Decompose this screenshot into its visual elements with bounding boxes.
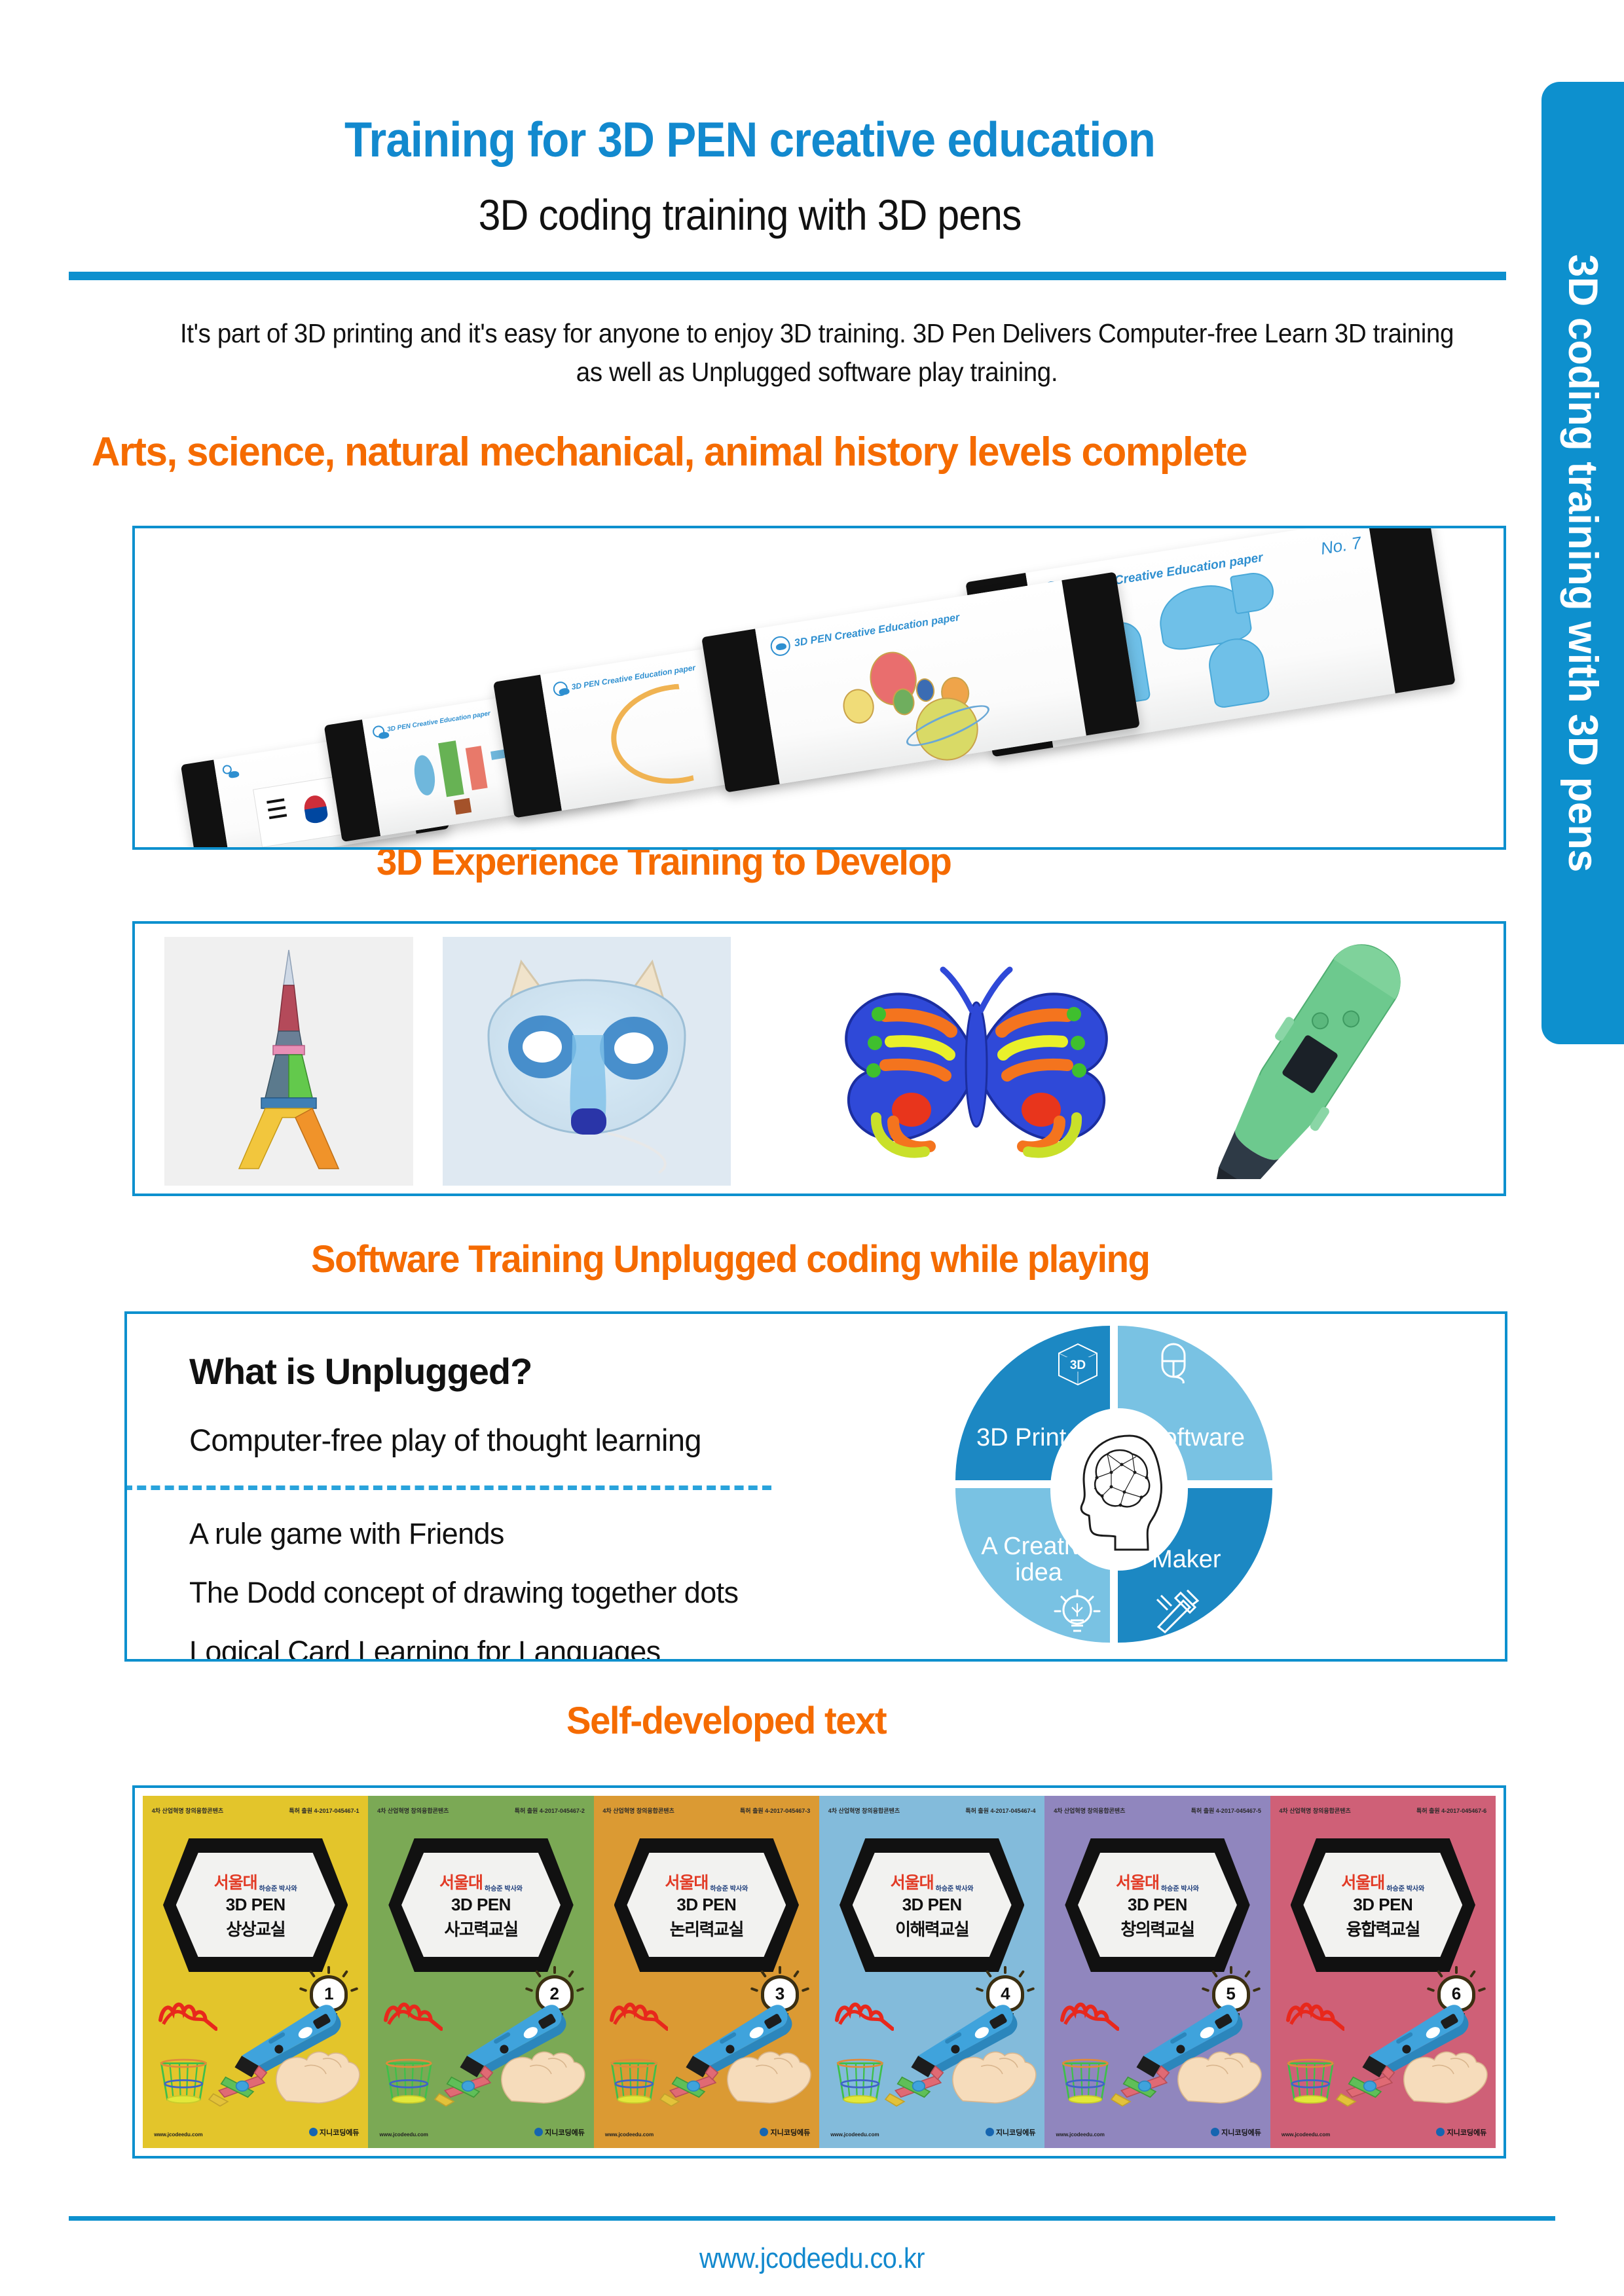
photo-3d-pen	[1156, 943, 1464, 1179]
textbook-university-line: 서울대 하승준 박사와	[1116, 1870, 1199, 1893]
textbook-top-note: 4차 산업혁명 창의융합콘텐츠 특허 출원 4-2017-045467-5	[1054, 1806, 1261, 1815]
textbook-university-line: 서울대 하승준 박사와	[891, 1870, 974, 1893]
tools-icon	[1152, 1586, 1202, 1635]
textbook-university: 서울대	[1341, 1870, 1384, 1893]
textbook-content-note: 4차 산업혁명 창의융합콘텐츠	[377, 1806, 449, 1815]
panel-education-papers: 3D PEN Creative Education paper No. 7 3D…	[132, 526, 1506, 850]
textbook-patent: 특허 출원 4-2017-045467-5	[1191, 1806, 1261, 1815]
textbook-hexagon-badge: 서울대 하승준 박사와 3D PEN 창의력교실	[1065, 1838, 1249, 1972]
basket-icon	[607, 2043, 661, 2120]
textbook-university-line: 서울대 하승준 박사와	[1341, 1870, 1424, 1893]
textbook-content-note: 4차 산업혁명 창의융합콘텐츠	[828, 1806, 900, 1815]
toy-plane-icon	[657, 2049, 729, 2120]
jinie-logo-icon	[553, 680, 569, 697]
textbook-doctor: 하승준 박사와	[936, 1886, 974, 1893]
planet-shape	[914, 677, 936, 703]
dinosaur-shape	[1230, 570, 1277, 615]
textbook-university: 서울대	[891, 1870, 934, 1893]
header-divider	[69, 272, 1506, 280]
brain-head-icon	[1050, 1408, 1188, 1571]
textbook-patent: 특허 출원 4-2017-045467-4	[965, 1806, 1035, 1815]
red-scribble-icon	[835, 1990, 894, 2039]
textbook-content-note: 4차 산업혁명 창의융합콘텐츠	[1279, 1806, 1350, 1815]
textbook-university: 서울대	[214, 1870, 257, 1893]
textbook-room-label: 논리력교실	[670, 1916, 743, 1941]
unplugged-question: What is Unplugged?	[189, 1350, 532, 1393]
toy-plane-icon	[882, 2049, 954, 2120]
textbook-brand: 지니코딩에듀	[986, 2127, 1036, 2138]
textbook-top-note: 4차 산업혁명 창의융합콘텐츠 특허 출원 4-2017-045467-2	[377, 1806, 585, 1815]
toy-plane-icon	[432, 2049, 504, 2120]
jinie-logo-icon	[372, 725, 386, 738]
airplane-part	[466, 746, 487, 791]
brand-logo-icon	[986, 2128, 994, 2136]
textbook-hexagon-badge: 서울대 하승준 박사와 3D PEN 이해력교실	[840, 1838, 1024, 1972]
textbook-row: 4차 산업혁명 창의융합콘텐츠 특허 출원 4-2017-045467-1 서울…	[143, 1796, 1496, 2148]
card-sheet: 3D PEN Creative Education paper	[755, 580, 1086, 784]
textbook-patent: 특허 출원 4-2017-045467-2	[515, 1806, 585, 1815]
basket-icon	[1058, 2043, 1113, 2120]
textbook-pen-label: 3D PEN	[1353, 1895, 1412, 1915]
page-title: Training for 3D PEN creative education	[60, 111, 1440, 168]
card-title: 3D PEN Creative Education paper	[794, 611, 961, 649]
textbook-room-label: 이해력교실	[895, 1916, 969, 1941]
textbook-content-note: 4차 산업혁명 창의융합콘텐츠	[1054, 1806, 1125, 1815]
textbook-cover[interactable]: 4차 산업혁명 창의융합콘텐츠 특허 출원 4-2017-045467-2 서울…	[368, 1796, 593, 2148]
red-scribble-icon	[1286, 1990, 1345, 2039]
textbook-brand: 지니코딩에듀	[760, 2127, 810, 2138]
textbook-room-label: 융합력교실	[1346, 1916, 1420, 1941]
mouse-icon	[1151, 1338, 1196, 1383]
textbook-pen-label: 3D PEN	[1128, 1895, 1187, 1915]
planet-shape	[841, 687, 877, 726]
side-tab: 3D coding training with 3D pens	[1541, 82, 1624, 1044]
textbook-brand: 지니코딩에듀	[1436, 2127, 1486, 2138]
textbook-url: www.jcodeedu.com	[605, 2132, 654, 2138]
textbook-cover[interactable]: 4차 산업혁명 창의융합콘텐츠 특허 출원 4-2017-045467-4 서울…	[819, 1796, 1044, 2148]
textbook-patent: 특허 출원 4-2017-045467-3	[740, 1806, 810, 1815]
textbook-hexagon-badge: 서울대 하승준 박사와 3D PEN 사고력교실	[388, 1838, 573, 1972]
red-scribble-icon	[610, 1990, 669, 2039]
brand-logo-icon	[309, 2128, 318, 2136]
page-description: It's part of 3D printing and it's easy f…	[172, 314, 1462, 392]
textbook-university-line: 서울대 하승준 박사와	[214, 1870, 297, 1893]
textbook-university-line: 서울대 하승준 박사와	[665, 1870, 748, 1893]
unplugged-answer: Computer-free play of thought learning	[189, 1422, 701, 1458]
textbook-pen-label: 3D PEN	[451, 1895, 511, 1915]
jinie-logo-icon	[769, 634, 792, 657]
wolf-mask-icon	[443, 937, 731, 1186]
toy-plane-icon	[206, 2049, 278, 2120]
textbook-cover[interactable]: 4차 산업혁명 창의융합콘텐츠 특허 출원 4-2017-045467-5 서울…	[1044, 1796, 1270, 2148]
textbook-hexagon-badge: 서울대 하승준 박사와 3D PEN 융합력교실	[1291, 1838, 1475, 1972]
unplugged-item: Logical Card Learning fpr Languages	[189, 1635, 661, 1662]
textbook-room-label: 사고력교실	[444, 1916, 517, 1941]
basket-icon	[382, 2043, 436, 2120]
lightbulb-icon	[1054, 1588, 1101, 1637]
textbook-cover[interactable]: 4차 산업혁명 창의융합콘텐츠 특허 출원 4-2017-045467-1 서울…	[143, 1796, 368, 2148]
section-heading-levels: Arts, science, natural mechanical, anima…	[92, 429, 1247, 475]
textbook-url: www.jcodeedu.com	[154, 2132, 202, 2138]
toy-plane-icon	[1108, 2049, 1180, 2120]
textbook-doctor: 하승준 박사와	[1386, 1886, 1424, 1893]
basket-icon	[833, 2043, 887, 2120]
textbook-hexagon-badge: 서울대 하승준 박사와 3D PEN 논리력교실	[614, 1838, 799, 1972]
airplane-part	[454, 798, 471, 814]
textbook-patent: 특허 출원 4-2017-045467-6	[1416, 1806, 1486, 1815]
panel-textbooks: 4차 산업혁명 창의융합콘텐츠 특허 출원 4-2017-045467-1 서울…	[132, 1785, 1506, 2159]
textbook-cover[interactable]: 4차 산업혁명 창의융합콘텐츠 특허 출원 4-2017-045467-3 서울…	[594, 1796, 819, 2148]
photo-eiffel-tower	[164, 937, 413, 1186]
brand-logo-icon	[760, 2128, 768, 2136]
red-scribble-icon	[158, 1990, 217, 2039]
paper-card-solar-system: 3D PEN Creative Education paper	[701, 572, 1140, 792]
textbook-content-note: 4차 산업혁명 창의융합콘텐츠	[602, 1806, 674, 1815]
cube-3d-icon: 3D	[1054, 1340, 1102, 1389]
textbook-room-label: 상상교실	[226, 1916, 285, 1941]
textbook-doctor: 하승준 박사와	[259, 1886, 297, 1893]
red-scribble-icon	[384, 1990, 443, 2039]
photo-wolf-mask	[443, 937, 731, 1186]
footer-url[interactable]: www.jcodeedu.co.kr	[81, 2242, 1543, 2275]
textbook-pen-label: 3D PEN	[676, 1895, 736, 1915]
eiffel-tower-icon	[217, 946, 361, 1175]
concept-wheel-diagram: 3D Printer Software A Creative idea Make…	[955, 1326, 1283, 1653]
textbook-university: 서울대	[439, 1870, 483, 1893]
textbook-room-label: 창의력교실	[1120, 1916, 1194, 1941]
jinie-logo-icon	[222, 765, 232, 775]
textbook-university-line: 서울대 하승준 박사와	[439, 1870, 523, 1893]
panel-unplugged: What is Unplugged? Computer-free play of…	[124, 1311, 1507, 1662]
textbook-content-note: 4차 산업혁명 창의융합콘텐츠	[152, 1806, 223, 1815]
card-title: 3D PEN Creative Education paper	[386, 710, 490, 733]
textbook-top-note: 4차 산업혁명 창의융합콘텐츠 특허 출원 4-2017-045467-1	[152, 1806, 360, 1815]
textbook-url: www.jcodeedu.com	[830, 2132, 879, 2138]
textbook-brand: 지니코딩에듀	[534, 2127, 585, 2138]
card-header: 3D PEN Creative Education paper	[769, 592, 1058, 657]
dashed-divider	[124, 1485, 771, 1490]
panel-3d-creations	[132, 921, 1506, 1196]
textbook-top-note: 4차 산업혁명 창의융합콘텐츠 특허 출원 4-2017-045467-6	[1279, 1806, 1486, 1815]
unplugged-item: The Dodd concept of drawing together dot…	[189, 1576, 738, 1610]
red-scribble-icon	[1060, 1990, 1119, 2039]
unplugged-item: A rule game with Friends	[189, 1517, 504, 1551]
butterfly-icon	[822, 950, 1130, 1173]
page-subtitle: 3D coding training with 3D pens	[60, 190, 1440, 240]
textbook-hexagon-badge: 서울대 하승준 박사와 3D PEN 상상교실	[163, 1838, 348, 1972]
side-tab-label: 3D coding training with 3D pens	[1559, 254, 1606, 872]
toy-plane-icon	[1333, 2049, 1405, 2120]
textbook-university: 서울대	[1116, 1870, 1159, 1893]
brand-logo-icon	[534, 2128, 543, 2136]
textbook-cover[interactable]: 4차 산업혁명 창의융합콘텐츠 특허 출원 4-2017-045467-6 서울…	[1270, 1796, 1496, 2148]
basket-icon	[1283, 2043, 1338, 2120]
textbook-url: www.jcodeedu.com	[1056, 2132, 1105, 2138]
textbook-top-note: 4차 산업혁명 창의융합콘텐츠 특허 출원 4-2017-045467-3	[602, 1806, 810, 1815]
textbook-doctor: 하승준 박사와	[1161, 1886, 1199, 1893]
textbook-doctor: 하승준 박사와	[485, 1886, 523, 1893]
card-number: No. 7	[1319, 532, 1363, 558]
textbook-brand: 지니코딩에듀	[309, 2127, 360, 2138]
textbook-url: www.jcodeedu.com	[380, 2132, 428, 2138]
brand-logo-icon	[1211, 2128, 1219, 2136]
brand-logo-icon	[1436, 2128, 1445, 2136]
airplane-part	[438, 740, 464, 797]
footer-divider	[69, 2216, 1555, 2221]
textbook-doctor: 하승준 박사와	[710, 1886, 748, 1893]
photo-butterfly	[822, 950, 1130, 1173]
textbook-brand: 지니코딩에듀	[1211, 2127, 1261, 2138]
textbook-url: www.jcodeedu.com	[1282, 2132, 1330, 2138]
section-heading-textbooks: Self-developed text	[566, 1699, 886, 1743]
poster-page: Training for 3D PEN creative education 3…	[0, 0, 1624, 2296]
dinosaur-shape	[1205, 634, 1270, 710]
3d-pen-icon	[1156, 943, 1464, 1179]
basket-icon	[157, 2043, 211, 2120]
textbook-patent: 특허 출원 4-2017-045467-1	[289, 1806, 359, 1815]
svg-text:3D: 3D	[1070, 1358, 1086, 1372]
section-heading-software: Software Training Unplugged coding while…	[311, 1237, 1149, 1281]
textbook-top-note: 4차 산업혁명 창의융합콘텐츠 특허 출원 4-2017-045467-4	[828, 1806, 1036, 1815]
textbook-pen-label: 3D PEN	[902, 1895, 962, 1915]
textbook-university: 서울대	[665, 1870, 708, 1893]
textbook-pen-label: 3D PEN	[226, 1895, 286, 1915]
airplane-part	[412, 754, 437, 797]
